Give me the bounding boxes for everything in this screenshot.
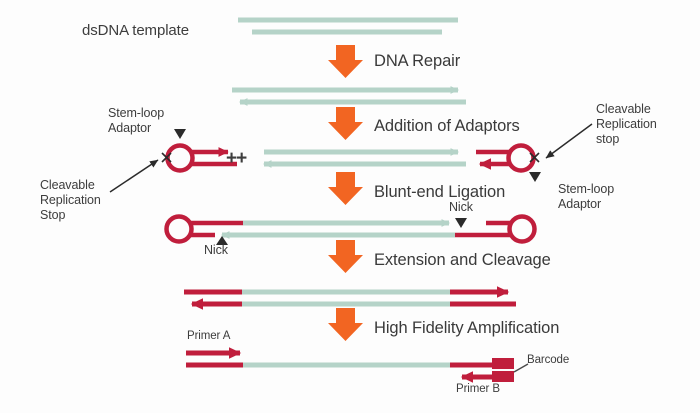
label-nick-left: Nick	[204, 243, 228, 258]
row-amplified	[186, 353, 528, 382]
label-stem-loop-adaptor-left: Stem-loop Adaptor	[108, 106, 164, 136]
step-arrow-dna-repair	[328, 45, 363, 78]
adaptor-triangle-marker-icon	[529, 172, 541, 182]
right-adaptor	[476, 146, 541, 183]
label-primer-b: Primer B	[456, 383, 500, 397]
label-plus-sign: ++	[226, 148, 246, 170]
step-arrow-extension-and-cleavage	[328, 240, 363, 273]
barcode-block-bottom	[492, 371, 514, 382]
label-cleavable-replication-stop-left: Cleavable Replication Stop	[40, 178, 101, 222]
leader-line-barcode	[514, 364, 528, 372]
step-arrow-addition-of-adaptors	[328, 107, 363, 140]
label-cleavable-replication-stop-right: Cleavable Replication stop	[596, 102, 657, 146]
row-repaired	[232, 90, 466, 102]
label-dsdna-template: dsDNA template	[82, 22, 189, 40]
label-nick-right: Nick	[449, 200, 473, 215]
leader-line-cleavable-stop-right	[546, 124, 592, 158]
stem-loop-circle-right	[510, 217, 535, 242]
row-extended	[184, 292, 516, 304]
step-label-extension-and-cleavage: Extension and Cleavage	[374, 251, 551, 270]
adaptor-triangle-marker-icon	[174, 129, 186, 139]
step-label-dna-repair: DNA Repair	[374, 52, 460, 71]
stem-loop-circle-left	[167, 217, 192, 242]
step-arrow-high-fidelity-amplification	[328, 308, 363, 341]
label-barcode: Barcode	[527, 354, 569, 368]
step-label-high-fidelity-amplification: High Fidelity Amplification	[374, 319, 559, 338]
row-template	[238, 20, 458, 32]
label-primer-a: Primer A	[187, 330, 230, 344]
barcode-block-top	[492, 358, 514, 369]
nick-marker-right-icon	[455, 218, 467, 228]
step-arrow-blunt-end-ligation	[328, 172, 363, 205]
leader-line-cleavable-stop-left	[110, 160, 158, 192]
stem-loop-circle	[168, 146, 193, 171]
figure-canvas: dsDNA template DNA Repair Addition of Ad…	[0, 0, 700, 413]
stem-loop-circle	[509, 146, 534, 171]
label-stem-loop-adaptor-right: Stem-loop Adaptor	[558, 182, 614, 212]
step-label-blunt-end-ligation: Blunt-end Ligation	[374, 183, 505, 202]
step-label-addition-of-adaptors: Addition of Adaptors	[374, 117, 520, 136]
